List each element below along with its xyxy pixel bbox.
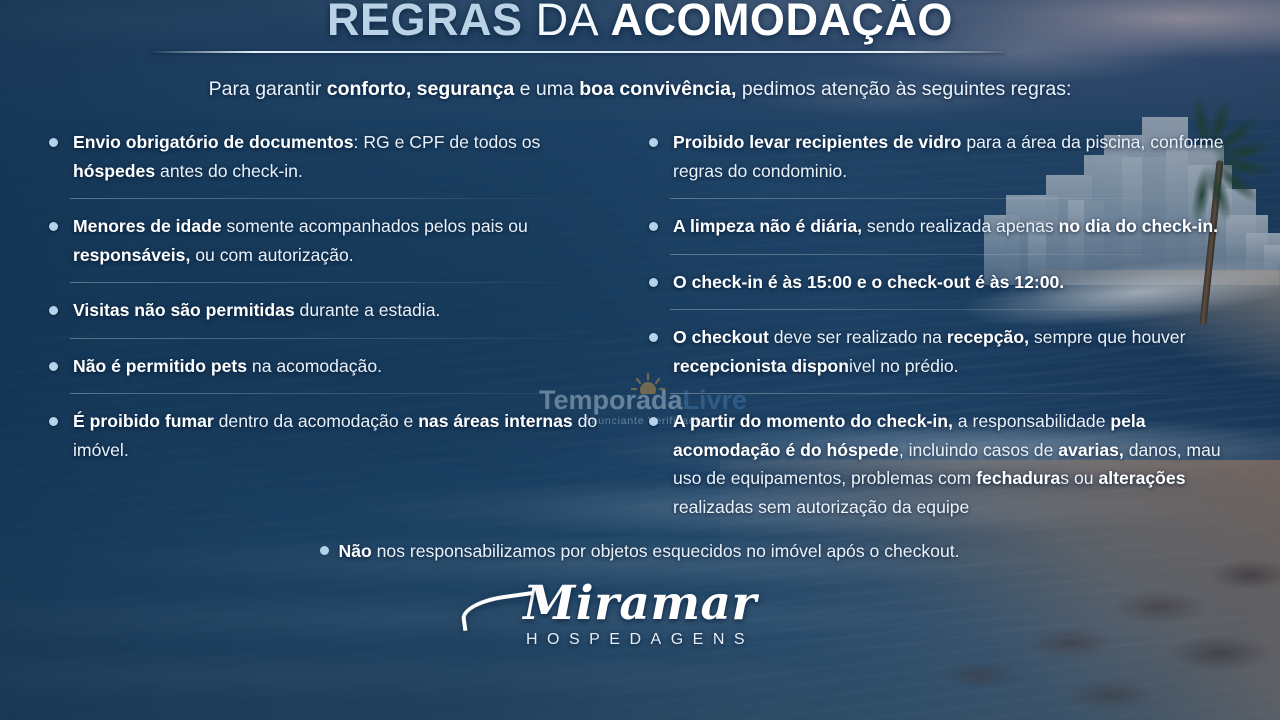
rule-text-2: antes do check-in.	[155, 161, 303, 181]
rule-bold: O check-in é às 15:00 e o check-out é às…	[673, 272, 1064, 292]
rule-item: Envio obrigatório de documentos: RG e CP…	[46, 128, 606, 185]
rule-bold: A limpeza não é diária,	[673, 216, 862, 236]
footnote-bold: Não	[338, 541, 371, 561]
title-da: DA	[536, 0, 600, 45]
rule-bold-2: nas áreas internas	[418, 411, 573, 431]
brand-logo: Miramar HOSPEDAGENS	[0, 578, 1280, 649]
rule-bold: O checkout	[673, 327, 769, 347]
rule-text-2: , incluindo casos de	[899, 440, 1058, 460]
rules-column-right: Proibido levar recipientes de vidro para…	[646, 128, 1234, 521]
rule-text: : RG e CPF de todos os	[354, 132, 541, 152]
rule-bold: Visitas não são permitidas	[73, 300, 295, 320]
rule-text: na acomodação.	[247, 356, 382, 376]
rule-bold: É proibido fumar	[73, 411, 214, 431]
rule-separator	[70, 282, 600, 283]
rule-bold-2: recepção,	[947, 327, 1029, 347]
rule-bold: Proibido levar recipientes de vidro	[673, 132, 961, 152]
rule-text-2: sempre que houver	[1029, 327, 1185, 347]
rule-item: A limpeza não é diária, sendo realizada …	[646, 212, 1234, 241]
rule-separator	[670, 393, 1228, 394]
footnote-rule: Não nos responsabilizamos por objetos es…	[0, 541, 1280, 562]
rule-text-4: s ou	[1060, 468, 1098, 488]
logo-tagline: HOSPEDAGENS	[0, 631, 1280, 649]
rule-bold: Não é permitido pets	[73, 356, 247, 376]
rule-separator	[670, 198, 1228, 199]
rule-bold-4: fechadura	[976, 468, 1060, 488]
rule-text-2: ou com autorização.	[190, 245, 353, 265]
rule-text: durante a estadia.	[295, 300, 441, 320]
rule-bold-3: avarias,	[1058, 440, 1124, 460]
rule-text-3: ivel no prédio.	[849, 356, 959, 376]
rule-bold-2: responsáveis,	[73, 245, 190, 265]
rule-item: O check-in é às 15:00 e o check-out é às…	[646, 268, 1234, 297]
rule-bold-3: recepcionista dispon	[673, 356, 849, 376]
rule-item: Visitas não são permitidas durante a est…	[46, 296, 606, 325]
rule-item: O checkout deve ser realizado na recepçã…	[646, 323, 1234, 380]
rule-item: Não é permitido pets na acomodação.	[46, 352, 606, 381]
rule-item: Proibido levar recipientes de vidro para…	[646, 128, 1234, 185]
title-divider	[150, 51, 1005, 53]
rule-text: somente acompanhados pelos pais ou	[222, 216, 528, 236]
rule-bold-5: alterações	[1098, 468, 1185, 488]
rule-bold-2: hóspedes	[73, 161, 155, 181]
rule-bold-2: no dia do check-in.	[1059, 216, 1218, 236]
rule-text-5: realizadas sem autorização da equipe	[673, 497, 969, 517]
rule-item: Menores de idade somente acompanhados pe…	[46, 212, 606, 269]
subtitle-b: conforto, segurança	[327, 78, 514, 100]
logo-name-text: Miramar	[523, 576, 757, 631]
page-title: REGRAS DA ACOMODAÇÃO	[0, 0, 1280, 46]
rules-column-left: Envio obrigatório de documentos: RG e CP…	[46, 128, 606, 464]
rule-text: deve ser realizado na	[769, 327, 947, 347]
bullet-icon	[320, 546, 329, 555]
title-regras: REGRAS	[327, 0, 523, 45]
subtitle-a: Para garantir	[209, 78, 327, 100]
subtitle-e: pedimos atenção às seguintes regras:	[736, 78, 1071, 100]
rule-bold: A partir do momento do check-in,	[673, 411, 953, 431]
rule-separator	[70, 338, 600, 339]
title-acomodacao: ACOMODAÇÃO	[610, 0, 952, 45]
subtitle-c: e uma	[514, 78, 579, 100]
subtitle-d: boa convivência,	[579, 78, 736, 100]
rule-item: É proibido fumar dentro da acomodação e …	[46, 407, 606, 464]
rule-text: a responsabilidade	[953, 411, 1110, 431]
rule-separator	[670, 309, 1228, 310]
footnote-text: nos responsabilizamos por objetos esquec…	[372, 541, 960, 561]
rule-text: dentro da acomodação e	[214, 411, 418, 431]
rule-separator	[70, 198, 600, 199]
rule-text: sendo realizada apenas	[862, 216, 1059, 236]
rule-item: A partir do momento do check-in, a respo…	[646, 407, 1234, 521]
logo-name: Miramar	[523, 578, 757, 630]
rule-separator	[70, 393, 600, 394]
subtitle: Para garantir conforto, segurança e uma …	[0, 78, 1280, 101]
rule-separator	[670, 254, 1228, 255]
rule-bold: Envio obrigatório de documentos	[73, 132, 354, 152]
rule-bold: Menores de idade	[73, 216, 222, 236]
